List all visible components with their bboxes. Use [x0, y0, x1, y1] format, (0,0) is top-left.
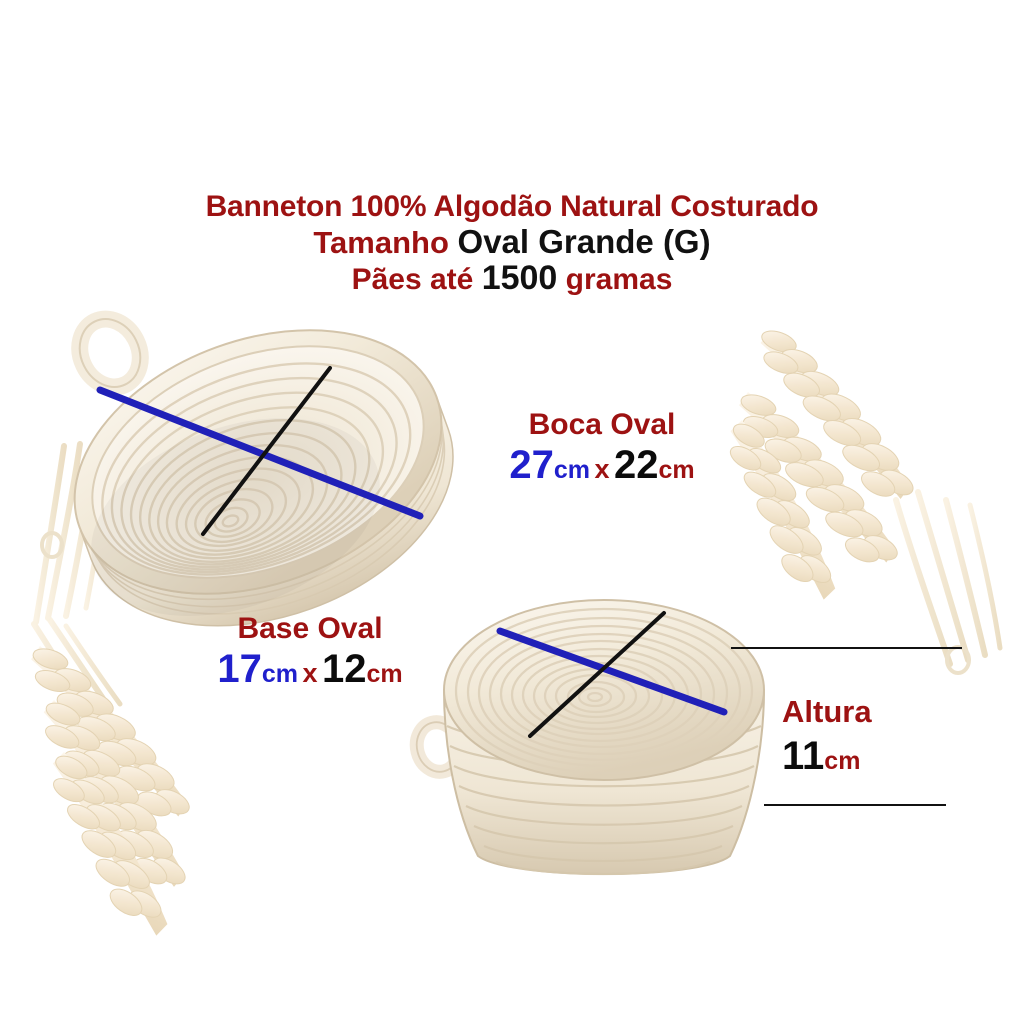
base-measurement-value: 17cm x 12cm: [160, 649, 460, 689]
mouth-unit-a: cm: [554, 456, 590, 484]
title-capacity-unit: gramas: [566, 263, 673, 296]
illustration-layer: [0, 0, 1024, 1024]
wheat-stalks-right: [686, 319, 1000, 673]
product-infographic: Banneton 100% Algodão Natural Costurado …: [0, 0, 1024, 1024]
title-size-value: Oval Grande (G): [458, 223, 711, 260]
height-value: 11: [782, 734, 824, 778]
base-value-b: 12: [322, 647, 367, 691]
mouth-unit-b: cm: [658, 456, 694, 484]
height-guide-bottom: [764, 804, 946, 806]
base-unit-a: cm: [262, 660, 298, 688]
base-separator: x: [302, 658, 317, 688]
title-line-1-text: Banneton 100% Algodão Natural Costurado: [206, 190, 819, 223]
height-measurement-caption: Altura 11cm: [782, 694, 972, 776]
basket-bottom-inverted: [412, 600, 764, 874]
title-capacity-value: 1500: [482, 259, 558, 297]
height-unit: cm: [824, 747, 860, 775]
page-title: Banneton 100% Algodão Natural Costurado …: [0, 192, 1024, 296]
basket-handle-loop: [69, 309, 152, 397]
mouth-measurement-title: Boca Oval: [452, 408, 752, 442]
base-measurement-title: Base Oval: [160, 612, 460, 646]
base-unit-b: cm: [366, 660, 402, 688]
title-line-2: Tamanho Oval Grande (G): [0, 225, 1024, 259]
base-value-a: 17: [217, 647, 262, 691]
mouth-separator: x: [594, 454, 609, 484]
height-guide-top: [731, 647, 962, 649]
mouth-measurement-value: 27cm x 22cm: [452, 445, 752, 485]
title-line-3: Pães até 1500 gramas: [0, 261, 1024, 296]
mouth-measurement-caption: Boca Oval 27cm x 22cm: [452, 408, 752, 485]
title-line-1: Banneton 100% Algodão Natural Costurado: [0, 192, 1024, 223]
title-size-label: Tamanho: [313, 225, 449, 260]
mouth-value-b: 22: [614, 443, 659, 487]
height-measurement-value: 11cm: [782, 736, 972, 776]
base-measurement-caption: Base Oval 17cm x 12cm: [160, 612, 460, 689]
height-measurement-title: Altura: [782, 694, 972, 730]
mouth-value-a: 27: [509, 443, 554, 487]
title-capacity-label: Pães até: [352, 263, 474, 296]
